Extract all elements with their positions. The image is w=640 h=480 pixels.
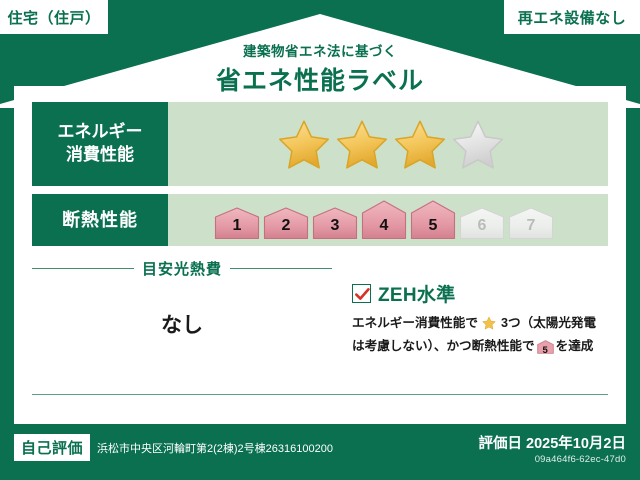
self-evaluation-badge: 自己評価 xyxy=(14,434,90,461)
badge-dwelling-type: 住宅（住戸） xyxy=(0,0,108,34)
utility-cost-heading: 目安光熱費 xyxy=(32,258,332,279)
insulation-grade-house: 3 xyxy=(312,207,358,240)
energy-performance-label-line2: 消費性能 xyxy=(66,144,134,167)
zeh-title: ZEH水準 xyxy=(378,280,456,307)
insulation-performance-label: 断熱性能 xyxy=(32,194,168,246)
inline-grade-value: 5 xyxy=(537,344,554,359)
evaluation-id: 09a464f6-62ec-47d0 xyxy=(479,454,626,465)
check-icon xyxy=(353,285,372,304)
star-filled-icon xyxy=(394,118,446,170)
insulation-grade-value: 7 xyxy=(508,217,554,235)
star-filled-icon xyxy=(336,118,388,170)
insulation-grade-house: 1 xyxy=(214,207,260,240)
insulation-grade-house: 6 xyxy=(459,207,505,240)
star-filled-icon xyxy=(278,118,330,170)
star-rating xyxy=(168,118,504,170)
zeh-desc-part2: 3つ（太陽光発電 xyxy=(501,316,596,330)
page-title-main: 省エネ性能ラベル xyxy=(0,61,640,97)
zeh-description: エネルギー消費性能で 3つ（太陽光発電 は考慮しない）、かつ断熱性能で 5 を達… xyxy=(352,314,620,360)
insulation-grade-house: 7 xyxy=(508,207,554,240)
insulation-performance-row: 断熱性能 1234567 xyxy=(32,194,608,246)
property-address: 浜松市中央区河輪町第2(2棟)2号棟26316100200 xyxy=(97,440,333,456)
zeh-checkbox[interactable] xyxy=(352,284,371,303)
energy-performance-row: エネルギー 消費性能 xyxy=(32,102,608,186)
utility-cost-title: 目安光熱費 xyxy=(142,258,222,279)
heading-rule-right xyxy=(230,268,332,269)
insulation-grade-value: 2 xyxy=(263,217,309,235)
badge-renewable-equipment-label: 再エネ設備なし xyxy=(518,7,627,28)
zeh-desc-part1: エネルギー消費性能で xyxy=(352,316,478,330)
star-empty-icon xyxy=(452,118,504,170)
inline-grade-house-icon: 5 xyxy=(537,340,554,361)
insulation-performance-label-text: 断熱性能 xyxy=(62,208,138,232)
energy-performance-label: エネルギー 消費性能 xyxy=(32,102,168,186)
insulation-grade-value: 3 xyxy=(312,217,358,235)
heading-rule-left xyxy=(32,268,134,269)
zeh-desc-part3: は考慮しない）、かつ断熱性能で xyxy=(352,339,535,353)
badge-dwelling-type-label: 住宅（住戸） xyxy=(7,7,100,28)
label-body-panel: エネルギー 消費性能 断熱性能 1234567 目安光熱費 xyxy=(14,86,626,424)
insulation-grade-scale: 1234567 xyxy=(168,200,554,240)
inline-star-icon xyxy=(479,319,500,333)
evaluation-date: 評価日 2025年10月2日 xyxy=(479,432,626,453)
insulation-grade-value: 5 xyxy=(410,217,456,235)
utility-cost-value: なし xyxy=(32,309,332,339)
badge-renewable-equipment: 再エネ設備なし xyxy=(504,0,640,34)
insulation-grade-value: 6 xyxy=(459,217,505,235)
footer-bar: 自己評価 浜松市中央区河輪町第2(2棟)2号棟26316100200 評価日 2… xyxy=(0,424,640,480)
insulation-grade-house: 2 xyxy=(263,207,309,240)
section-divider xyxy=(32,394,608,395)
utility-cost-section: 目安光熱費 なし xyxy=(32,258,332,339)
page-title: 建築物省エネ法に基づく 省エネ性能ラベル xyxy=(0,40,640,97)
page-subtitle: 建築物省エネ法に基づく xyxy=(0,40,640,60)
insulation-grade-house: 5 xyxy=(410,200,456,240)
insulation-grade-house: 4 xyxy=(361,200,407,240)
energy-label-card: 住宅（住戸） 再エネ設備なし 建築物省エネ法に基づく 省エネ性能ラベル エネルギ… xyxy=(0,0,640,480)
insulation-grade-value: 1 xyxy=(214,217,260,235)
energy-performance-label-line1: エネルギー xyxy=(58,121,143,144)
zeh-section: ZEH水準 エネルギー消費性能で 3つ（太陽光発電 は考慮しない）、かつ断熱性能… xyxy=(352,280,620,360)
insulation-grade-value: 4 xyxy=(361,217,407,235)
zeh-desc-part4: を達成 xyxy=(556,339,594,353)
